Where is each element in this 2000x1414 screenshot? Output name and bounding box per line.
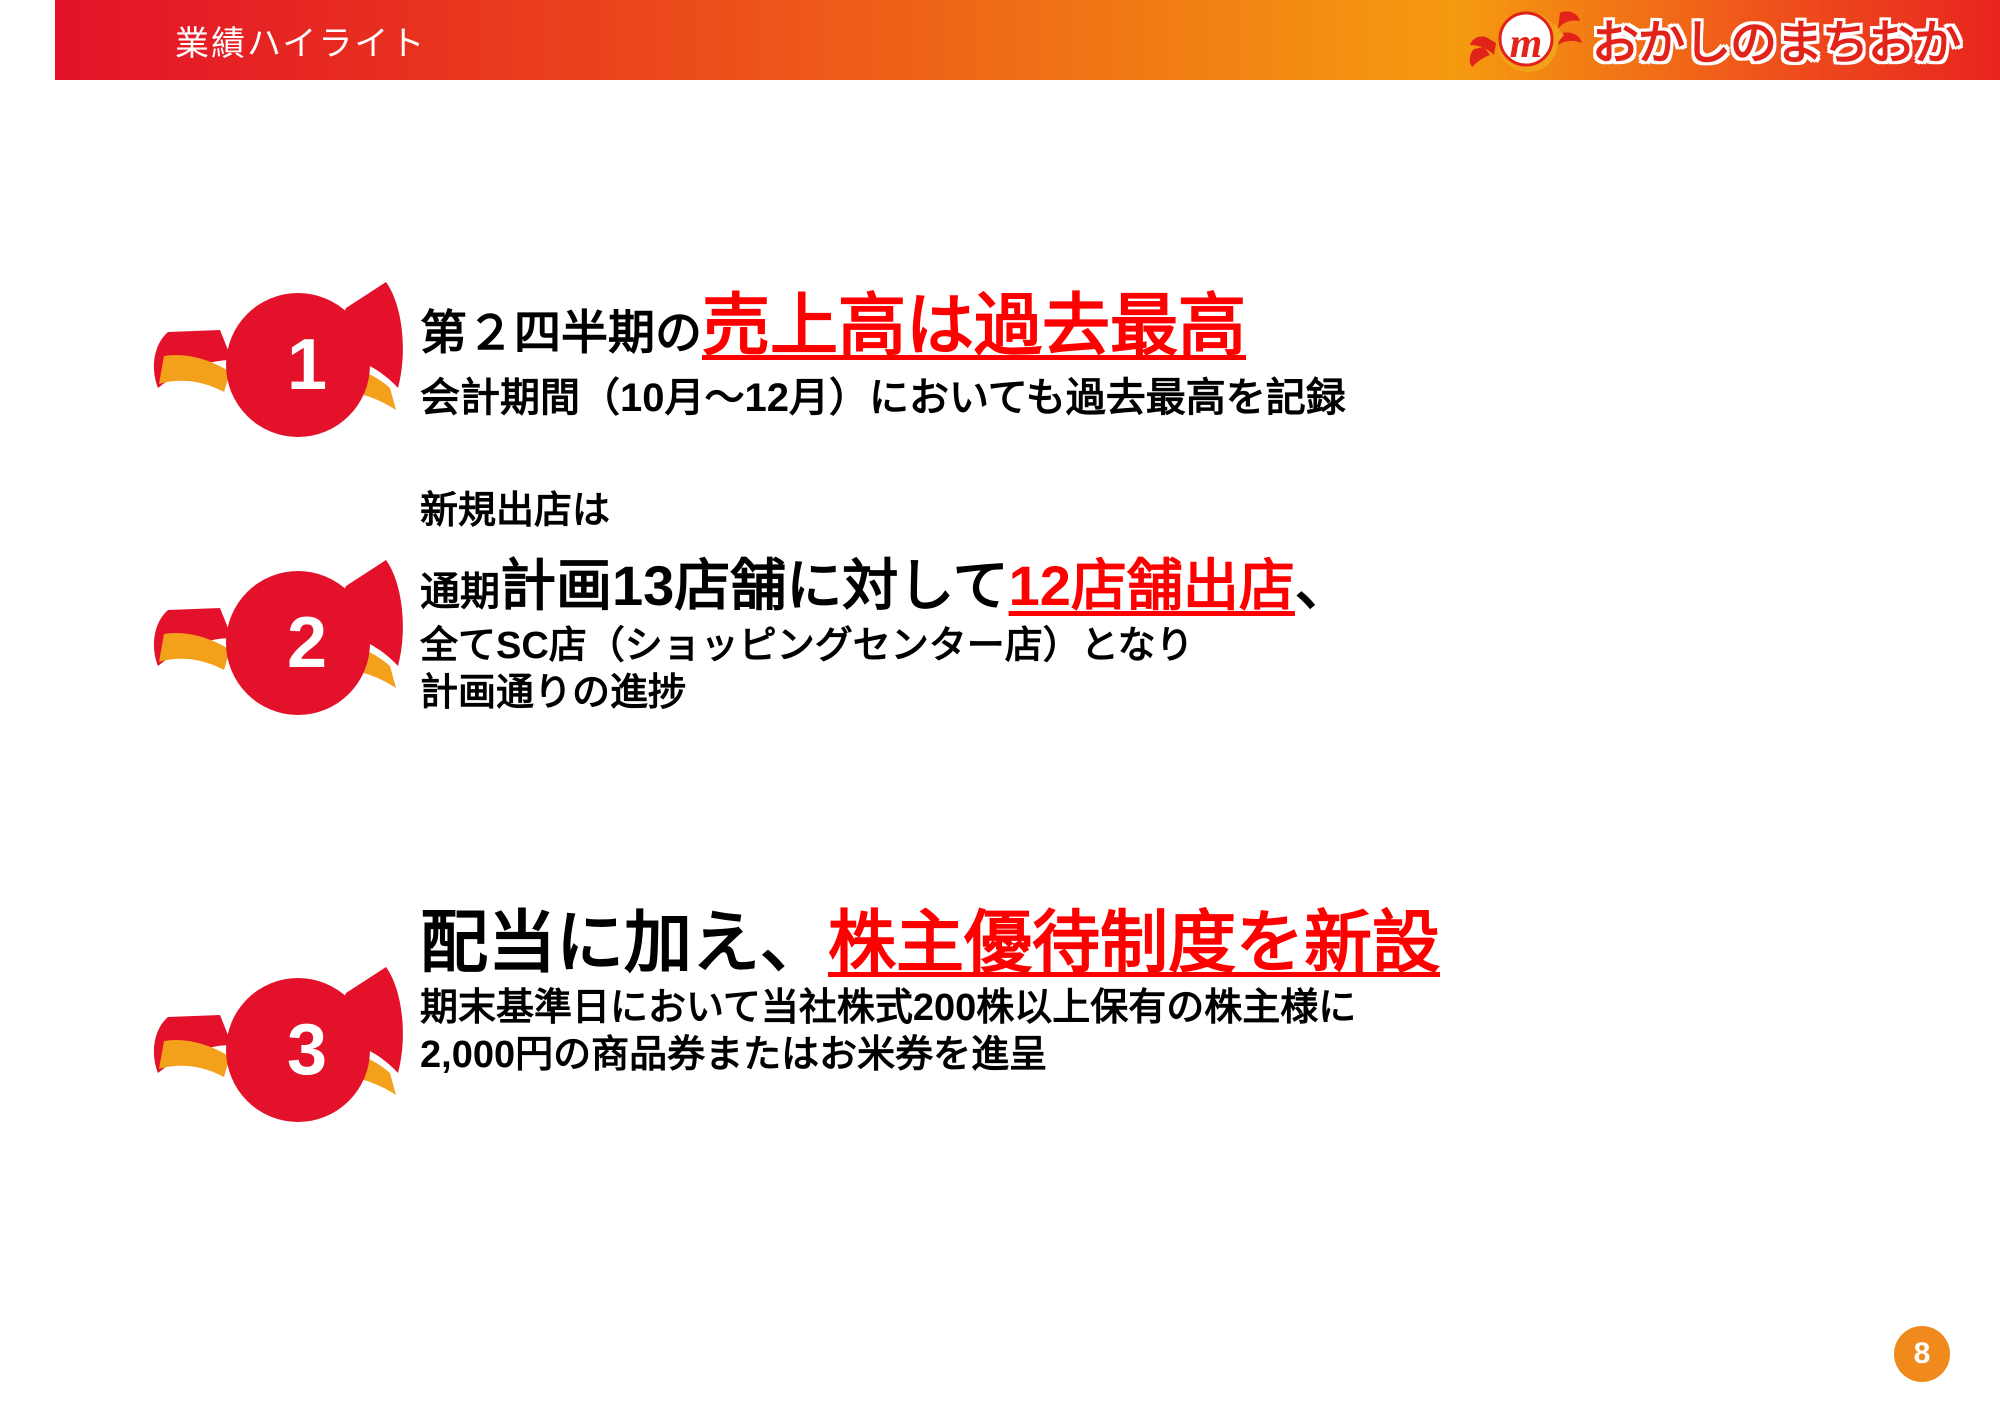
candy-badge-1: 1 [150, 260, 450, 470]
candy-badge-3: 3 [150, 945, 450, 1155]
page-number-badge: 8 [1894, 1326, 1950, 1382]
item2-line0: 新規出店は [420, 490, 610, 532]
item3-line1-highlight: 株主優待制度を新設 [828, 905, 1440, 981]
item1-line1-highlight: 売上高は過去最高 [702, 288, 1246, 364]
item1-line2: 会計期間（10月～12月）においても過去最高を記録 [420, 376, 1346, 420]
item2-line1-small-prefix: 通期 [420, 570, 500, 614]
slide: 業績ハイライト m おかしのまちおか [0, 0, 2000, 1414]
item2-line1-tail: 、 [1295, 554, 1351, 617]
highlight-item-3-text: 配当に加え、株主優待制度を新設 期末基準日において当社株式200株以上保有の株主… [420, 905, 1440, 1076]
svg-text:m: m [1510, 21, 1543, 67]
candy-m-logo-icon: m [1468, 7, 1586, 77]
logo-wordmark: おかしのまちおか [1592, 19, 1960, 66]
item3-line1-prefix: 配当に加え、 [420, 905, 828, 981]
item2-line1-prefix: 計画13店舗に対して [500, 554, 1009, 617]
item3-line2: 期末基準日において当社株式200株以上保有の株主様に [420, 987, 1356, 1029]
item3-line3: 2,000円の商品券またはお米券を進呈 [420, 1034, 1047, 1076]
highlight-item-2-text: 新規出店は 通期計画13店舗に対して12店舗出店、 全てSC店（ショッピングセン… [420, 490, 1351, 714]
candy-badge-2: 2 [150, 538, 450, 748]
page-title: 業績ハイライト [175, 16, 426, 65]
company-logo: m おかしのまちおか [1468, 6, 1960, 78]
item1-line1-prefix: 第２四半期の [420, 306, 702, 359]
item2-line2: 全てSC店（ショッピングセンター店）となり [420, 625, 1194, 667]
item2-line1-highlight: 12店舗出店 [1009, 554, 1295, 617]
item2-line3: 計画通りの進捗 [420, 672, 686, 714]
highlight-item-1-text: 第２四半期の売上高は過去最高 会計期間（10月～12月）においても過去最高を記録 [420, 288, 1346, 421]
